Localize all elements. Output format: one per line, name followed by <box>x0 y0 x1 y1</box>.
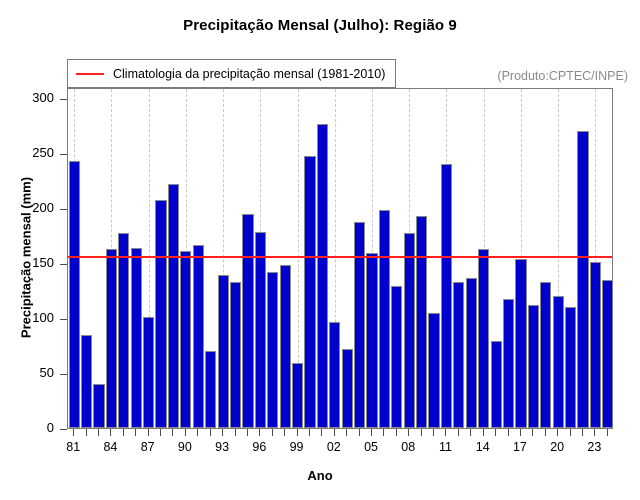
x-tick-mark <box>297 429 298 436</box>
bar-08 <box>404 233 415 428</box>
x-tick-mark <box>557 429 558 436</box>
x-tick-label: 93 <box>207 440 237 454</box>
x-tick-mark <box>520 429 521 436</box>
x-tick-label: 87 <box>133 440 163 454</box>
x-tick-mark <box>545 429 546 436</box>
x-tick-mark <box>396 429 397 436</box>
bar-04 <box>354 222 365 428</box>
x-tick-label: 05 <box>356 440 386 454</box>
bar-05 <box>366 253 377 428</box>
x-tick-mark <box>197 429 198 436</box>
x-tick-mark <box>135 429 136 436</box>
x-tick-mark <box>383 429 384 436</box>
y-tick-mark <box>60 374 67 375</box>
x-tick-mark <box>272 429 273 436</box>
x-tick-mark <box>110 429 111 436</box>
x-tick-mark <box>570 429 571 436</box>
bar-14 <box>478 249 489 428</box>
page-title: Precipitação Mensal (Julho): Região 9 <box>0 17 640 34</box>
x-tick-mark <box>408 429 409 436</box>
bar-03 <box>342 349 353 428</box>
bar-10 <box>428 313 439 429</box>
chart-root: Precipitação Mensal (Julho): Região 9 Cl… <box>0 0 640 500</box>
bar-84 <box>106 249 117 428</box>
y-tick-label: 0 <box>8 420 54 435</box>
bar-16 <box>503 299 514 428</box>
x-tick-mark <box>445 429 446 436</box>
x-tick-mark <box>470 429 471 436</box>
x-tick-label: 02 <box>319 440 349 454</box>
bar-92 <box>205 351 216 428</box>
bar-17 <box>515 259 526 428</box>
legend-line-swatch <box>76 73 104 75</box>
bar-96 <box>255 232 266 428</box>
bar-85 <box>118 233 129 428</box>
bar-81 <box>69 161 80 428</box>
legend-item-label: Climatologia da precipitação mensal (198… <box>113 67 385 81</box>
x-tick-label: 99 <box>282 440 312 454</box>
bar-undefined <box>602 280 613 429</box>
bar-87 <box>143 317 154 428</box>
bar-02 <box>329 322 340 428</box>
x-tick-mark <box>210 429 211 436</box>
x-tick-mark <box>160 429 161 436</box>
bar-06 <box>379 210 390 428</box>
product-credit-text: (Produto:CPTEC/INPE) <box>497 69 628 83</box>
bar-82 <box>81 335 92 429</box>
x-tick-mark <box>359 429 360 436</box>
y-tick-mark <box>60 319 67 320</box>
x-tick-mark <box>532 429 533 436</box>
bar-99 <box>292 363 303 428</box>
legend: Climatologia da precipitação mensal (198… <box>67 59 396 88</box>
bar-23 <box>590 262 601 428</box>
x-tick-mark <box>371 429 372 436</box>
bar-11 <box>441 164 452 428</box>
bar-15 <box>491 341 502 428</box>
bar-07 <box>391 286 402 428</box>
bar-13 <box>466 278 477 428</box>
bar-98 <box>280 265 291 428</box>
x-tick-mark <box>235 429 236 436</box>
x-tick-mark <box>98 429 99 436</box>
bar-00 <box>304 156 315 428</box>
y-tick-mark <box>60 264 67 265</box>
bar-94 <box>230 282 241 428</box>
y-tick-mark <box>60 99 67 100</box>
bar-83 <box>93 384 104 428</box>
x-tick-mark <box>508 429 509 436</box>
x-tick-mark <box>309 429 310 436</box>
x-tick-mark <box>222 429 223 436</box>
x-tick-label: 17 <box>505 440 535 454</box>
x-tick-mark <box>123 429 124 436</box>
x-tick-mark <box>172 429 173 436</box>
y-tick-mark <box>60 429 67 430</box>
x-tick-mark <box>247 429 248 436</box>
bar-93 <box>218 275 229 428</box>
x-tick-mark <box>73 429 74 436</box>
y-tick-mark <box>60 209 67 210</box>
y-tick-mark <box>60 154 67 155</box>
bar-21 <box>565 307 576 428</box>
x-tick-mark <box>582 429 583 436</box>
bar-22 <box>577 131 588 428</box>
plot-inner <box>68 89 612 428</box>
x-tick-mark <box>433 429 434 436</box>
x-tick-mark <box>321 429 322 436</box>
bar-19 <box>540 282 551 428</box>
bar-86 <box>131 248 142 428</box>
bar-01 <box>317 124 328 428</box>
x-tick-mark <box>148 429 149 436</box>
x-tick-mark <box>334 429 335 436</box>
x-tick-mark <box>284 429 285 436</box>
x-tick-mark <box>86 429 87 436</box>
x-tick-mark <box>185 429 186 436</box>
x-tick-label: 90 <box>170 440 200 454</box>
bar-18 <box>528 305 539 428</box>
climatology-reference-line <box>68 256 612 258</box>
bar-89 <box>168 184 179 428</box>
x-tick-label: 81 <box>58 440 88 454</box>
bar-91 <box>193 245 204 428</box>
x-tick-mark <box>594 429 595 436</box>
plot-area <box>67 88 613 429</box>
x-tick-mark <box>458 429 459 436</box>
bar-97 <box>267 272 278 428</box>
x-tick-label: 96 <box>244 440 274 454</box>
y-axis-title: Precipitação mensal (mm) <box>19 107 34 407</box>
x-tick-mark <box>483 429 484 436</box>
x-tick-label: 08 <box>393 440 423 454</box>
bar-88 <box>155 200 166 428</box>
x-tick-label: 20 <box>542 440 572 454</box>
x-axis-title: Ano <box>0 468 640 483</box>
x-tick-label: 23 <box>579 440 609 454</box>
x-tick-label: 11 <box>430 440 460 454</box>
bar-95 <box>242 214 253 429</box>
bar-09 <box>416 216 427 428</box>
x-tick-mark <box>495 429 496 436</box>
bar-90 <box>180 251 191 428</box>
x-tick-mark <box>421 429 422 436</box>
bar-20 <box>553 296 564 428</box>
x-tick-mark <box>259 429 260 436</box>
bar-12 <box>453 282 464 428</box>
x-tick-mark <box>346 429 347 436</box>
x-tick-label: 14 <box>468 440 498 454</box>
x-tick-label: 84 <box>95 440 125 454</box>
x-tick-mark <box>607 429 608 436</box>
y-tick-label: 300 <box>8 90 54 105</box>
